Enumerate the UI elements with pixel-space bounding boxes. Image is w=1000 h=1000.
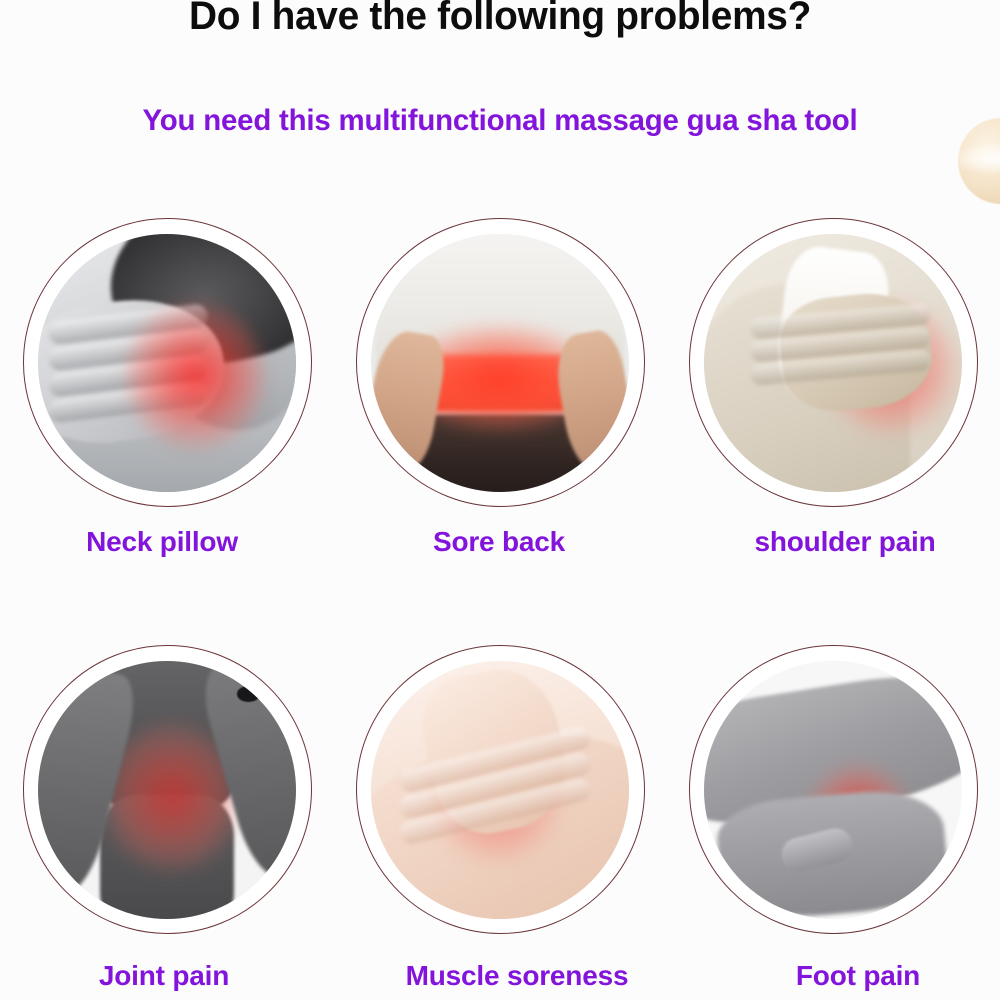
problems-grid: Neck pillow Sore back [0,218,1000,992]
problems-row-bottom: Joint pain Muscle soreness [0,645,1000,992]
joint-pain-photo [38,661,296,919]
circle-frame [689,645,978,934]
problem-label-muscle: Muscle soreness [406,960,629,992]
problem-label-shoulder: shoulder pain [755,526,936,558]
shoulder-pain-photo [704,234,962,492]
circle-frame [23,218,312,507]
problem-card-foot[interactable]: Foot pain [667,645,1000,992]
page-subtitle: You need this multifunctional massage gu… [10,104,990,138]
problem-label-joint: Joint pain [99,960,229,992]
back-pain-photo [371,234,629,492]
circle-frame [689,218,978,507]
circle-frame [356,645,645,934]
page-title: Do I have the following problems? [15,0,985,39]
problem-card-shoulder[interactable]: shoulder pain [667,218,1000,558]
infographic-page: Do I have the following problems? You ne… [0,0,1000,1000]
problems-row-top: Neck pillow Sore back [0,218,1000,558]
problem-card-back[interactable]: Sore back [334,218,667,558]
neck-pain-photo [38,234,296,492]
muscle-soreness-photo [371,661,629,919]
problem-card-joint[interactable]: Joint pain [1,645,334,992]
circle-frame [356,218,645,507]
foot-pain-photo [704,661,962,919]
problem-card-muscle[interactable]: Muscle soreness [334,645,667,992]
problem-label-foot: Foot pain [796,960,920,992]
circle-frame [23,645,312,934]
problem-card-neck[interactable]: Neck pillow [1,218,334,558]
problem-label-neck: Neck pillow [86,526,238,558]
problem-label-back: Sore back [433,526,565,558]
